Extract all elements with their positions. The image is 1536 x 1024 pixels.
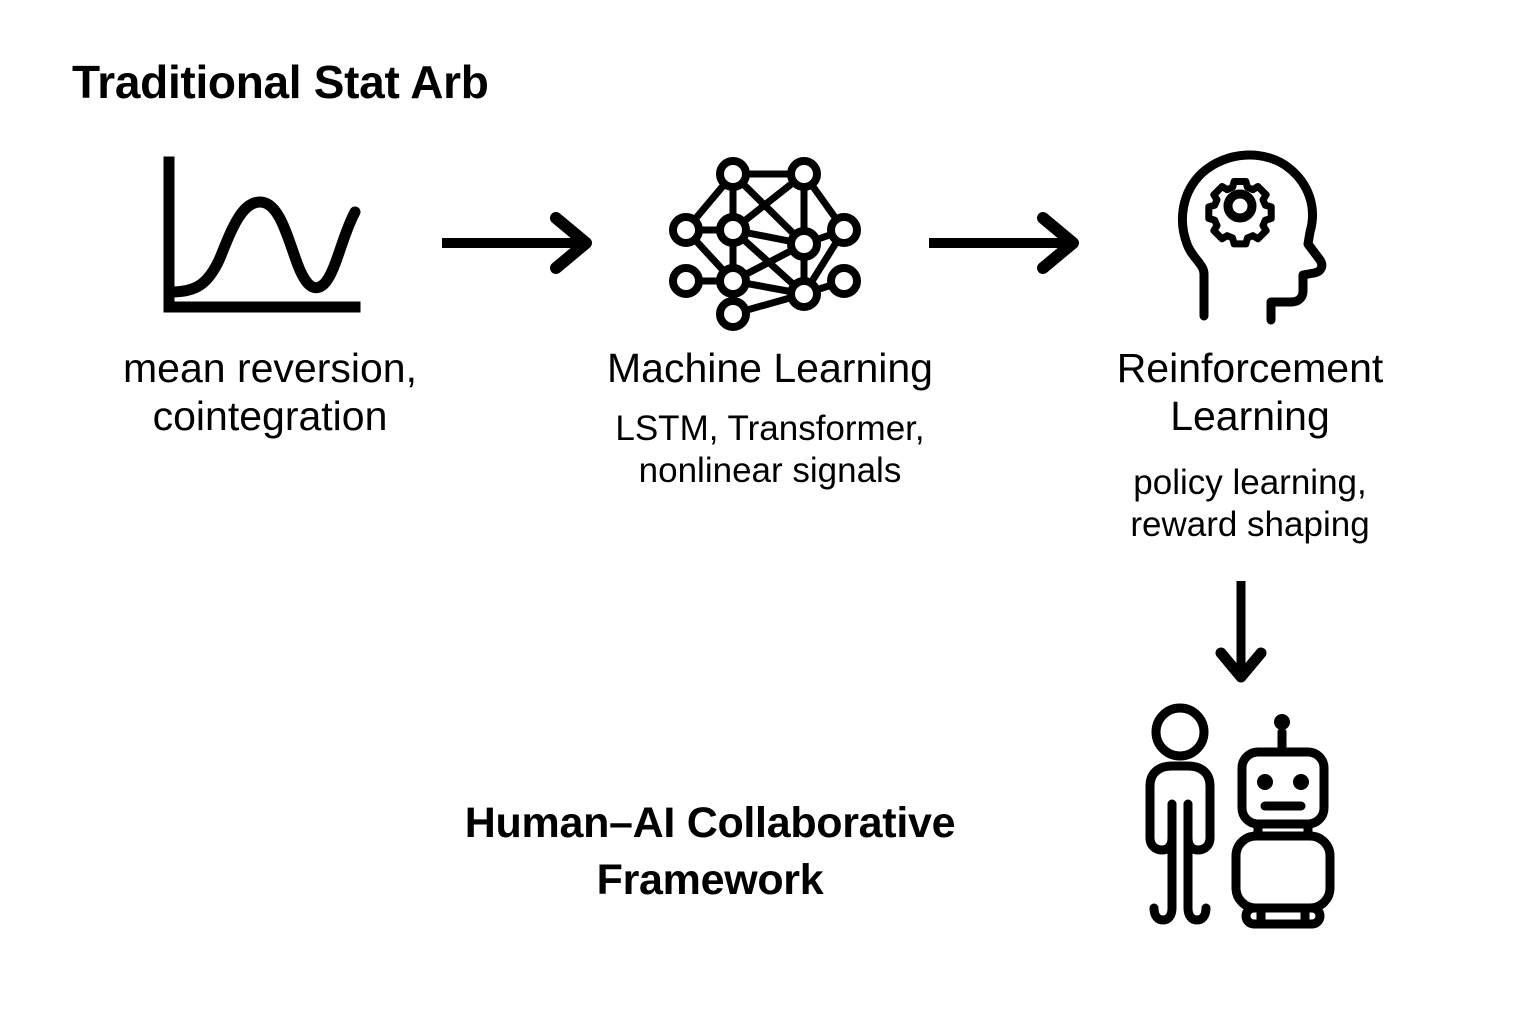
- line-chart-icon: [150, 150, 380, 325]
- neural-network-icon: [662, 148, 867, 326]
- outcome-title-line1: Human–AI Collaborative: [330, 795, 1090, 852]
- stage-subcaption-machine-learning: LSTM, Transformer, nonlinear signals: [520, 408, 1020, 492]
- arrow-stage3-to-outcome-icon: [1205, 578, 1285, 693]
- robot-figure-icon: [1236, 714, 1330, 924]
- page-title: Traditional Stat Arb: [72, 58, 489, 106]
- arrow-right-icon: [438, 212, 603, 274]
- stage-caption-machine-learning: Machine Learning: [520, 345, 1020, 393]
- stage-icon-reinforcement-learning: [1168, 146, 1343, 326]
- stage-icon-machine-learning: [662, 148, 867, 326]
- stage-icon-traditional-stat-arb: [150, 150, 380, 325]
- arrow-stage1-to-stage2-icon: [438, 212, 603, 274]
- human-figure-icon: [1150, 708, 1210, 920]
- head-gear-icon: [1168, 146, 1343, 326]
- human-and-robot-icon: [1130, 700, 1345, 930]
- diagram-canvas: Traditional Stat Arb: [0, 0, 1536, 1024]
- stage-caption-reinforcement-learning: Reinforcement Learning: [1020, 345, 1480, 440]
- arrow-stage2-to-stage3-icon: [925, 212, 1090, 274]
- arrow-right-icon: [925, 212, 1090, 274]
- outcome-title: Human–AI Collaborative Framework: [330, 795, 1090, 909]
- arrow-down-icon: [1205, 578, 1285, 693]
- stage-subcaption-reinforcement-learning: policy learning, reward shaping: [1020, 462, 1480, 546]
- outcome-title-line2: Framework: [330, 852, 1090, 909]
- stage-caption-traditional-stat-arb: mean reversion, cointegration: [30, 345, 510, 440]
- outcome-icon-human-ai-collaboration: [1130, 700, 1345, 930]
